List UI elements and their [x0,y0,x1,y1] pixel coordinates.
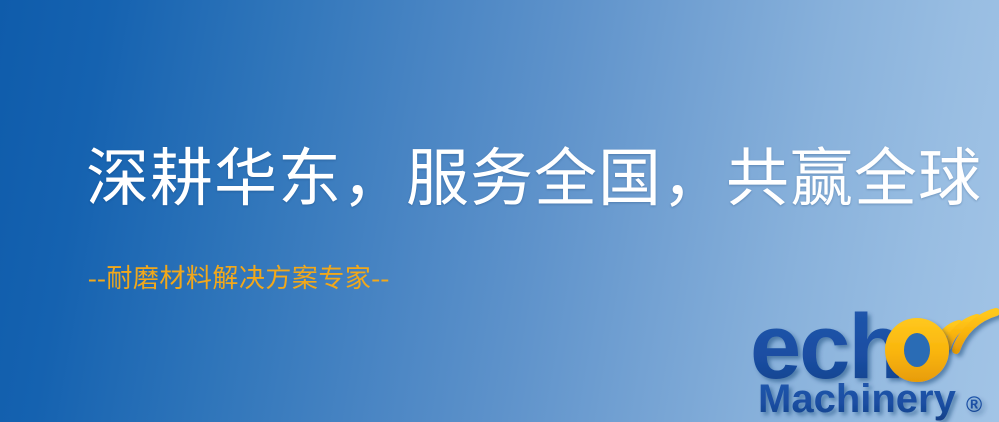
hero-banner: 深耕华东，服务全国，共赢全球 --耐磨材料解决方案专家-- [0,0,999,422]
banner-subtitle: --耐磨材料解决方案专家-- [88,266,390,292]
page-title: 深耕华东，服务全国，共赢全球 [86,148,982,211]
logo-tagline: Machinery [758,377,957,421]
registered-trademark-icon: ® [966,392,982,417]
echo-machinery-logo: ech Machinery ® [742,296,999,422]
logo-wordmark-o [885,318,949,382]
